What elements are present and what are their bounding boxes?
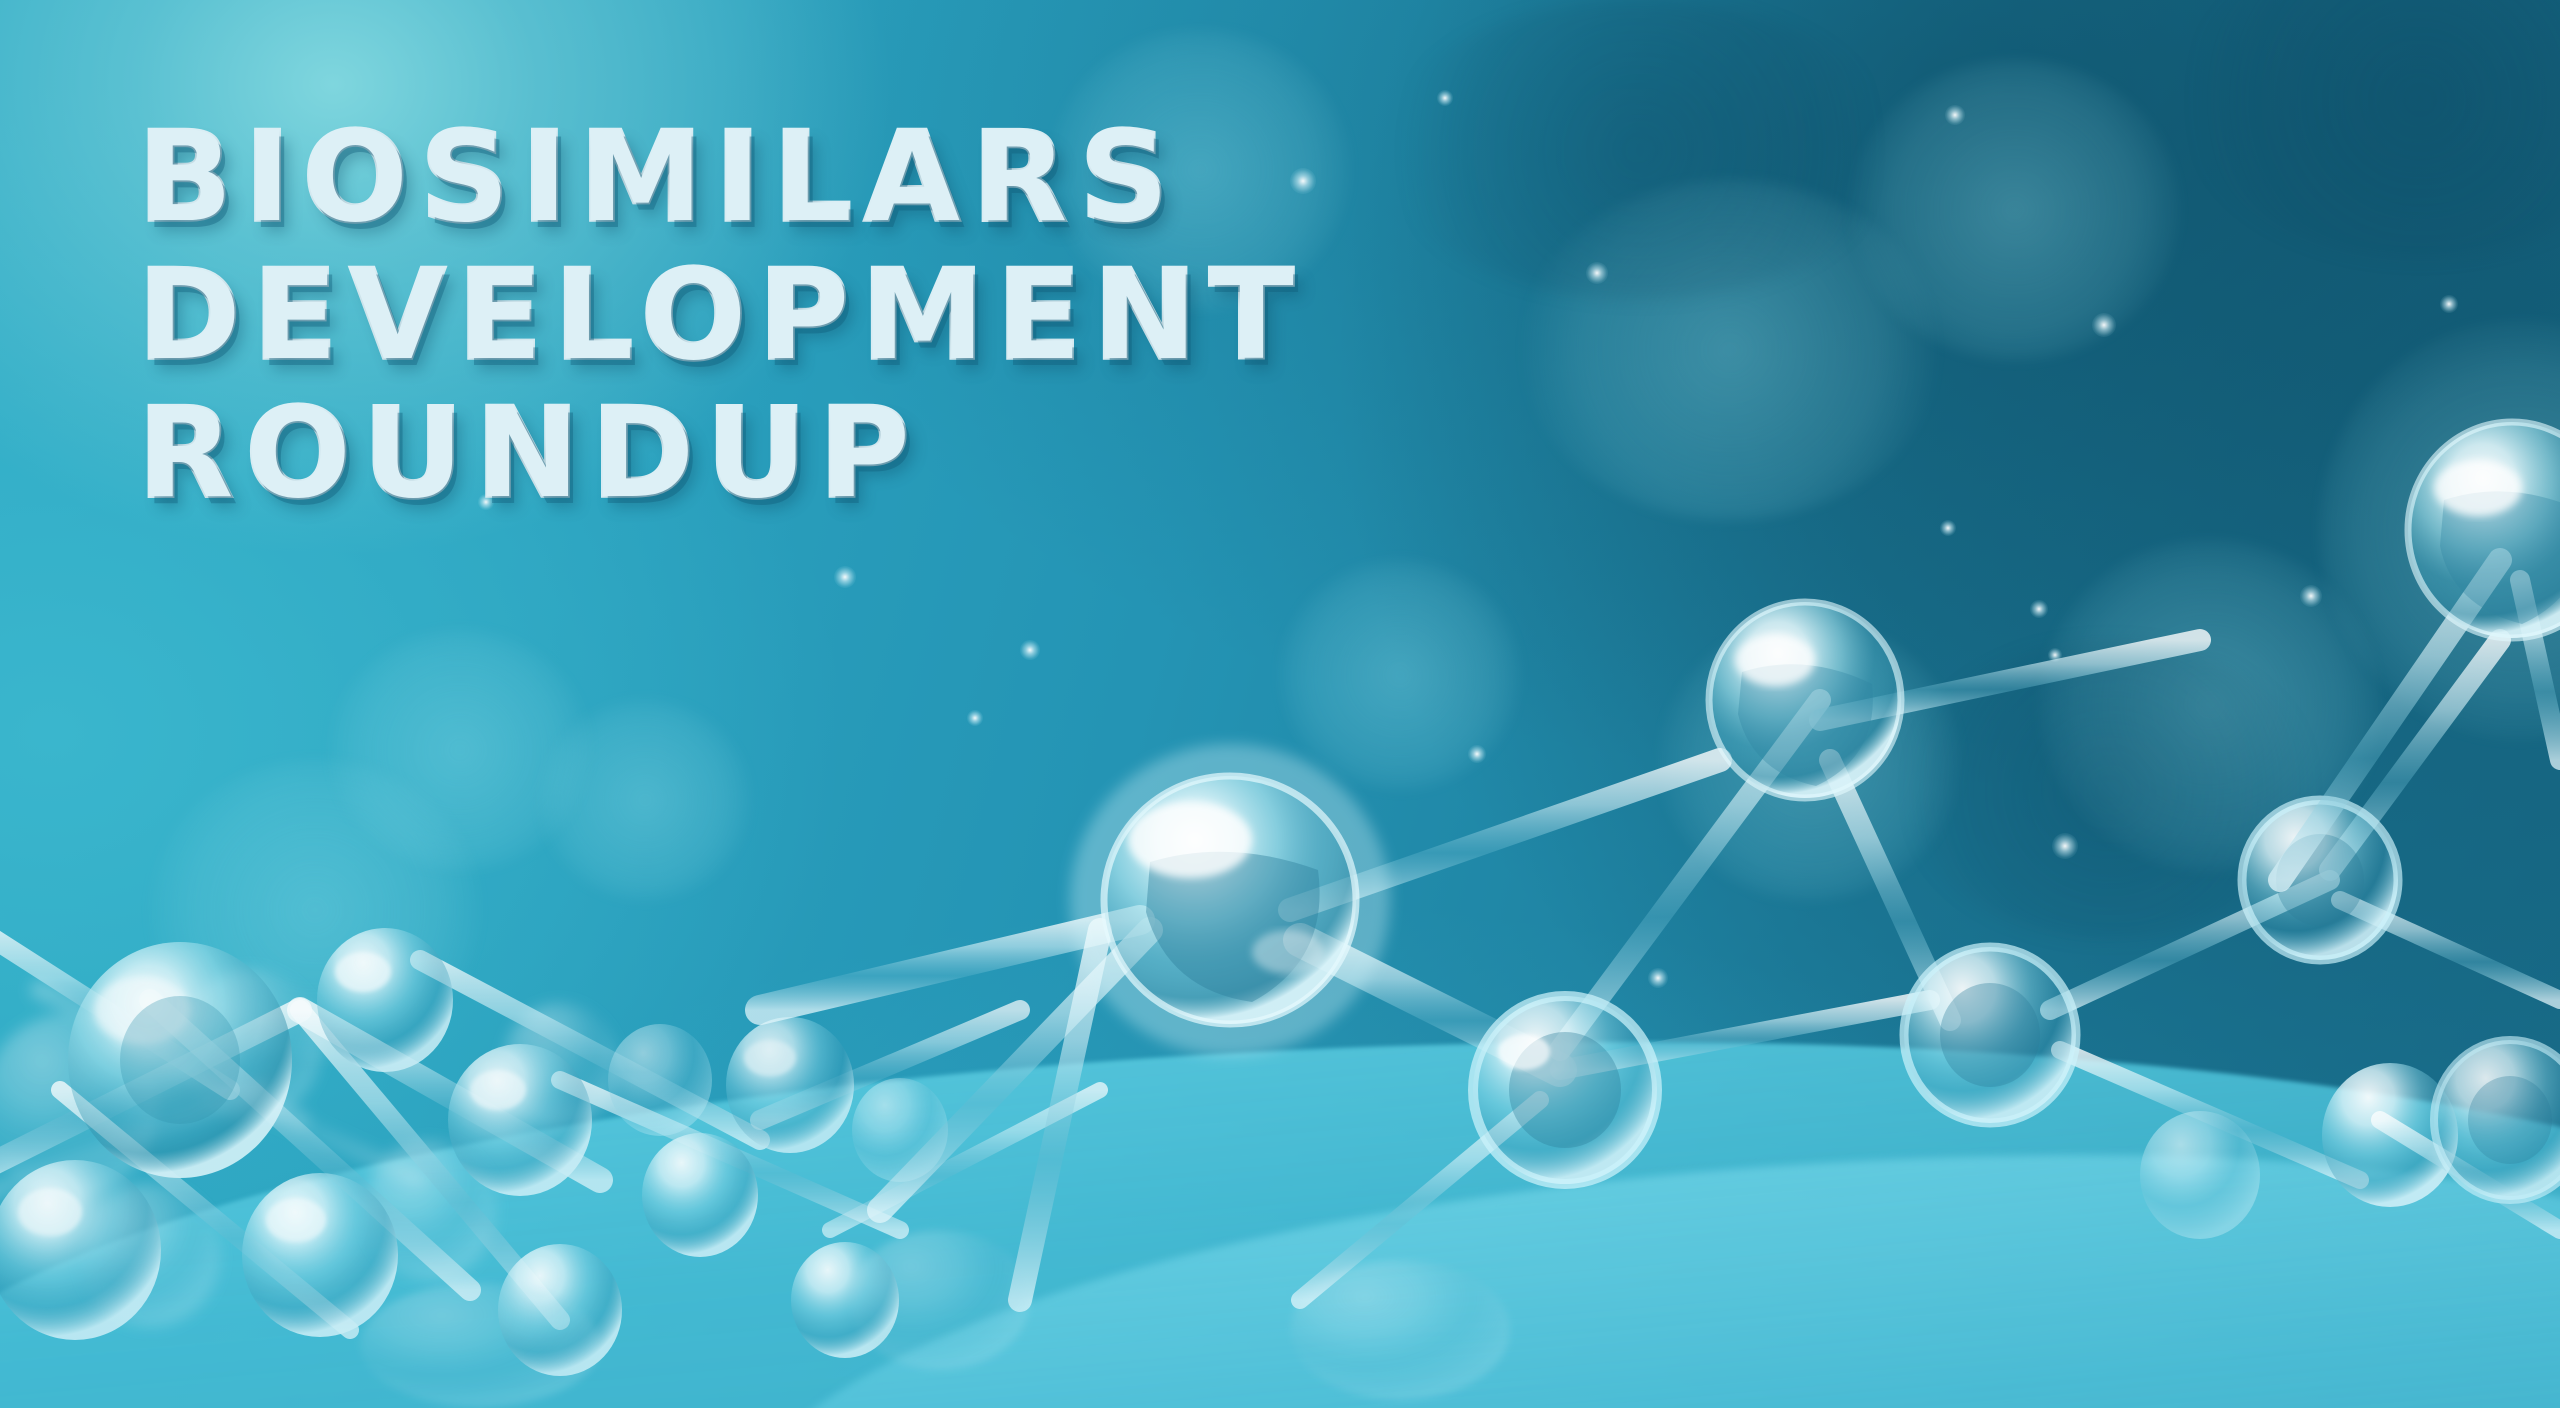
title-line-3: ROUNDUP [138,388,1638,520]
title-line-2: DEVELOPMENT [138,250,1638,382]
title-line-1: BIOSIMILARS [138,112,1638,244]
banner-title: BIOSIMILARS DEVELOPMENT ROUNDUP [138,112,1638,520]
banner-image: BIOSIMILARS DEVELOPMENT ROUNDUP [0,0,2560,1408]
